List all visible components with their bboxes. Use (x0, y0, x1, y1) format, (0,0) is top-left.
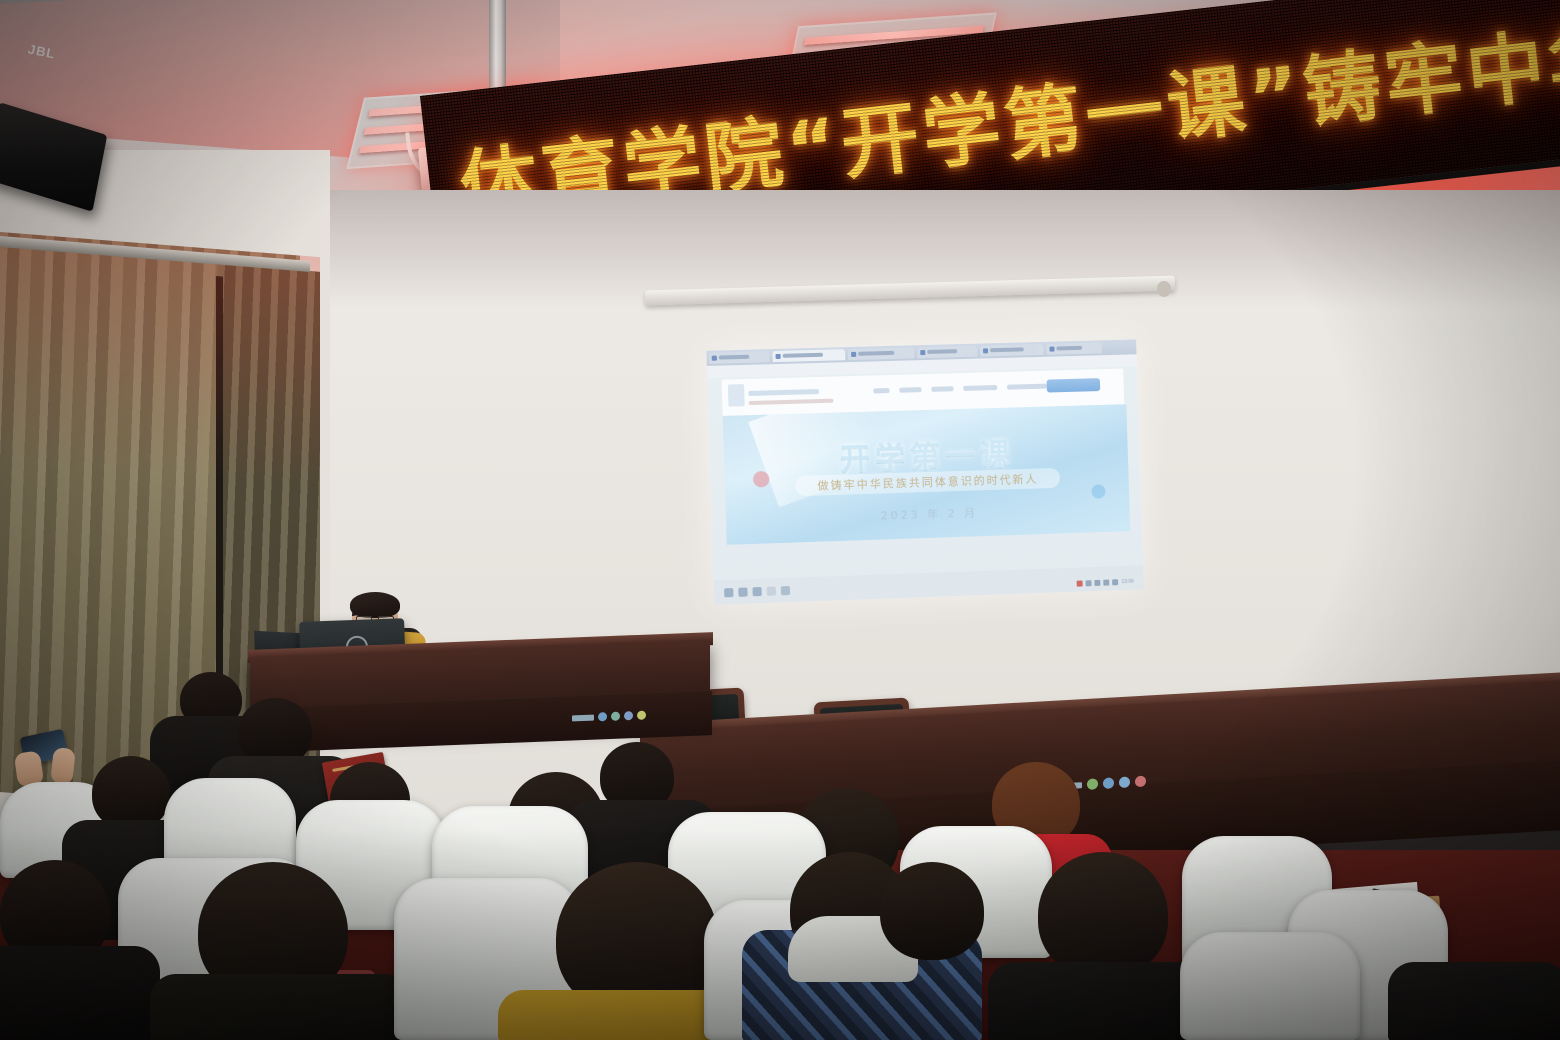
podium-panel-label (572, 714, 594, 721)
power-icon[interactable] (1103, 777, 1114, 789)
browser-tab[interactable] (917, 346, 977, 359)
site-cta-button[interactable] (1047, 378, 1101, 392)
browser-tab[interactable] (980, 344, 1044, 357)
slide-subtitle: 做铸牢中华民族共同体意识的时代新人 (817, 471, 1038, 494)
attendee-body (150, 974, 410, 1040)
site-nav-item[interactable] (873, 388, 889, 393)
site-logo-icon (728, 384, 745, 407)
chair-cover (1180, 932, 1360, 1040)
mic-icon[interactable] (1087, 778, 1098, 790)
browser-tab[interactable] (1046, 342, 1102, 354)
system-tray[interactable]: 13:06 (1077, 579, 1134, 587)
site-nav-item[interactable] (963, 385, 997, 391)
volume-icon[interactable] (611, 712, 620, 721)
site-nav-item[interactable] (899, 387, 921, 393)
taskbar-note-icon[interactable] (781, 586, 790, 595)
tray-network-icon[interactable] (1086, 580, 1092, 586)
power-icon[interactable] (598, 712, 607, 721)
attendee-head (1038, 852, 1168, 978)
site-nav-item[interactable] (931, 386, 953, 392)
tray-ime-icon[interactable] (1113, 579, 1119, 585)
curtain-light-wash (0, 232, 320, 487)
projection-screen: 开学第一课 做铸牢中华民族共同体意识的时代新人 2023 年 2 月 13:06 (706, 339, 1143, 604)
attendee-body (1388, 962, 1560, 1040)
taskbar-clock[interactable]: 13:06 (1121, 579, 1133, 585)
slide-hero-banner: 开学第一课 做铸牢中华民族共同体意识的时代新人 2023 年 2 月 (723, 404, 1131, 545)
taskbar-browser-icon[interactable] (752, 587, 761, 596)
taskbar-window-icon[interactable] (724, 588, 733, 597)
input-icon[interactable] (624, 711, 633, 720)
lamp-icon[interactable] (637, 711, 646, 720)
hero-decor-dot-secondary (1091, 484, 1105, 498)
browser-tab[interactable] (848, 347, 914, 360)
tray-battery-icon[interactable] (1104, 580, 1110, 586)
tray-record-icon[interactable] (1077, 580, 1083, 586)
browser-tab[interactable] (772, 349, 845, 362)
tray-volume-icon[interactable] (1095, 580, 1101, 586)
attendee-body (0, 946, 160, 1040)
down-icon[interactable] (1135, 776, 1146, 788)
attendee-head (880, 862, 984, 960)
site-name-placeholder (748, 389, 819, 396)
browser-tab[interactable] (709, 351, 770, 364)
taskbar-app-icon[interactable] (767, 586, 776, 595)
up-icon[interactable] (1119, 776, 1130, 788)
presenter-hair (350, 592, 400, 618)
taskbar-folder-icon[interactable] (738, 587, 747, 596)
attendee-head (92, 756, 170, 830)
site-tagline-placeholder (749, 399, 834, 405)
lecture-hall-photo: 体育学院“开学第一课”铸牢中华民族共同体意识 JBL (0, 0, 1560, 1040)
site-nav-item[interactable] (1007, 384, 1047, 390)
